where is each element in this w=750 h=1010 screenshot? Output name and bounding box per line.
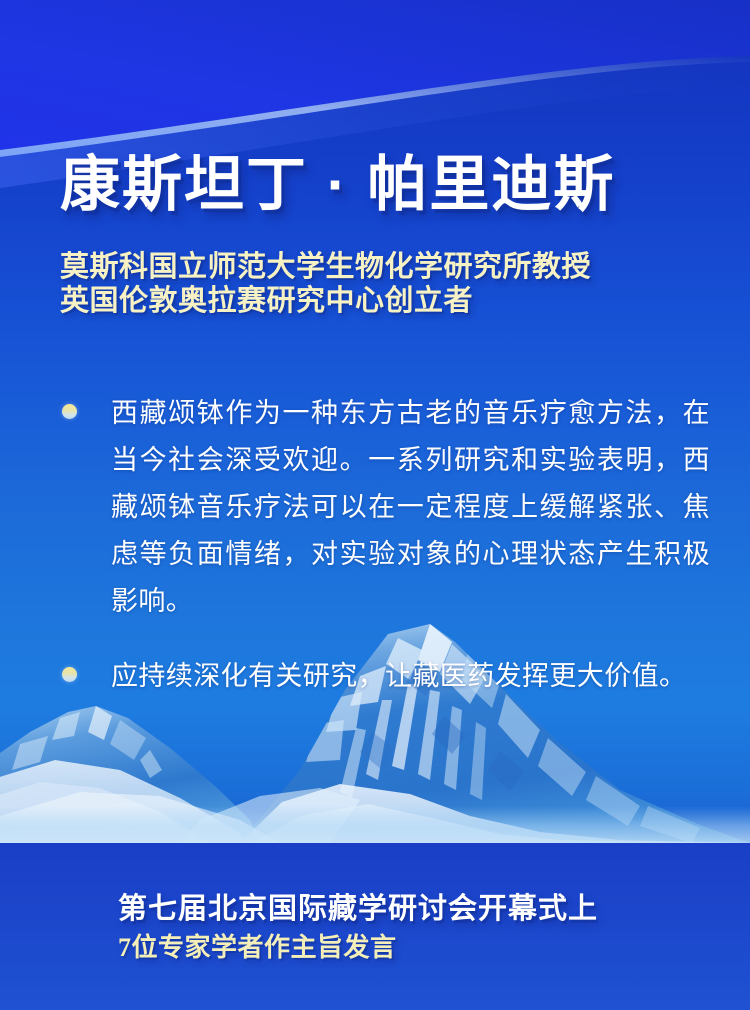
poster-canvas: 康斯坦丁 · 帕里迪斯 莫斯科国立师范大学生物化学研究所教授 英国伦敦奥拉赛研究…	[0, 0, 750, 1010]
list-item: 应持续深化有关研究，让藏医药发挥更大价值。	[62, 653, 710, 700]
list-item: 西藏颂钵作为一种东方古老的音乐疗愈方法，在当今社会深受欢迎。一系列研究和实验表明…	[62, 390, 710, 625]
bullet-text: 西藏颂钵作为一种东方古老的音乐疗愈方法，在当今社会深受欢迎。一系列研究和实验表明…	[111, 390, 710, 625]
bullet-text: 应持续深化有关研究，让藏医药发挥更大价值。	[111, 653, 710, 700]
bullet-list: 西藏颂钵作为一种东方古老的音乐疗愈方法，在当今社会深受欢迎。一系列研究和实验表明…	[62, 390, 710, 728]
footer-subheadline: 7位专家学者作主旨发言	[118, 929, 598, 967]
bullet-dot-icon	[62, 404, 77, 419]
subtitle-block: 莫斯科国立师范大学生物化学研究所教授 英国伦敦奥拉赛研究中心创立者	[60, 250, 591, 318]
footer-headline: 第七届北京国际藏学研讨会开幕式上	[118, 889, 598, 929]
footer-text-block: 第七届北京国际藏学研讨会开幕式上 7位专家学者作主旨发言	[118, 889, 598, 967]
content-layer: 康斯坦丁 · 帕里迪斯 莫斯科国立师范大学生物化学研究所教授 英国伦敦奥拉赛研究…	[0, 0, 750, 1010]
subtitle-line-2: 英国伦敦奥拉赛研究中心创立者	[60, 284, 591, 318]
subtitle-line-1: 莫斯科国立师范大学生物化学研究所教授	[60, 250, 591, 284]
poster-title: 康斯坦丁 · 帕里迪斯	[60, 150, 615, 220]
bullet-dot-icon	[62, 667, 77, 682]
